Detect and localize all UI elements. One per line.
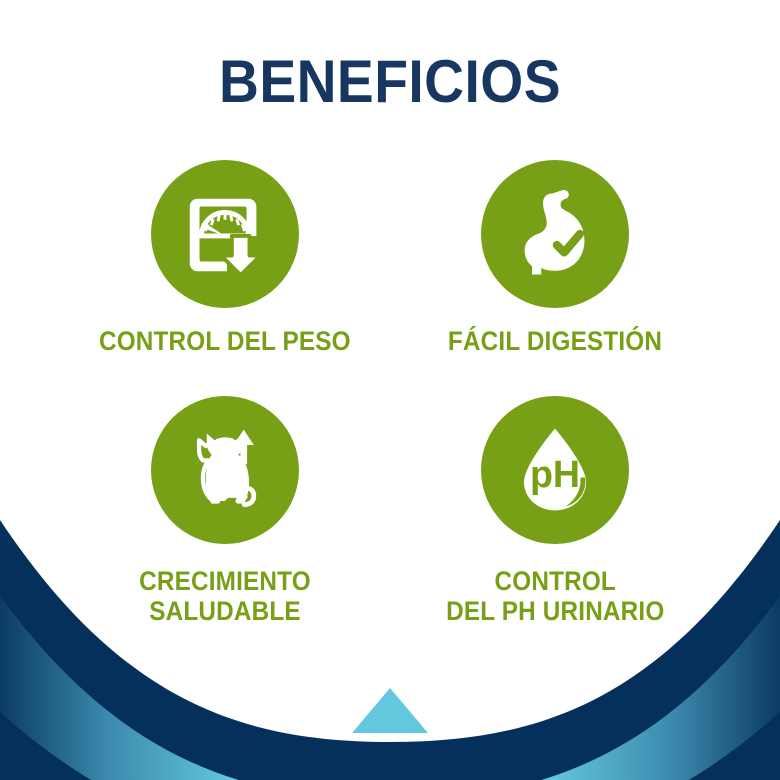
benefits-infographic: BENEFICIOS xyxy=(0,0,780,780)
benefit-item-easy-digestion[interactable]: FÁCIL DIGESTIÓN xyxy=(390,160,720,396)
benefit-label: CONTROL DEL PH URINARIO xyxy=(446,566,664,626)
benefit-item-healthy-growth[interactable]: CRECIMIENTO SALUDABLE xyxy=(60,396,390,632)
benefit-label: CONTROL DEL PESO xyxy=(99,326,351,356)
benefit-label: CRECIMIENTO SALUDABLE xyxy=(77,566,374,626)
stomach-check-icon xyxy=(509,188,601,280)
benefit-icon-circle: pH xyxy=(481,396,629,544)
benefit-icon-circle xyxy=(151,396,299,544)
benefits-grid: CONTROL DEL PESO FÁCIL DIGESTIÓN xyxy=(60,160,720,632)
benefit-item-weight-control[interactable]: CONTROL DEL PESO xyxy=(60,160,390,396)
growing-cat-up-arrow-icon xyxy=(177,422,273,518)
benefit-item-urinary-ph-control[interactable]: pH CONTROL DEL PH URINARIO xyxy=(390,396,720,632)
benefit-icon-circle xyxy=(151,160,299,308)
page-title: BENEFICIOS xyxy=(31,52,749,112)
weight-scale-down-arrow-icon xyxy=(176,185,274,283)
ph-icon-text: pH xyxy=(530,453,580,495)
center-chevron-notch xyxy=(352,688,428,733)
benefit-icon-circle xyxy=(481,160,629,308)
benefit-label: FÁCIL DIGESTIÓN xyxy=(448,326,662,356)
ph-water-drop-icon: pH xyxy=(508,423,602,517)
